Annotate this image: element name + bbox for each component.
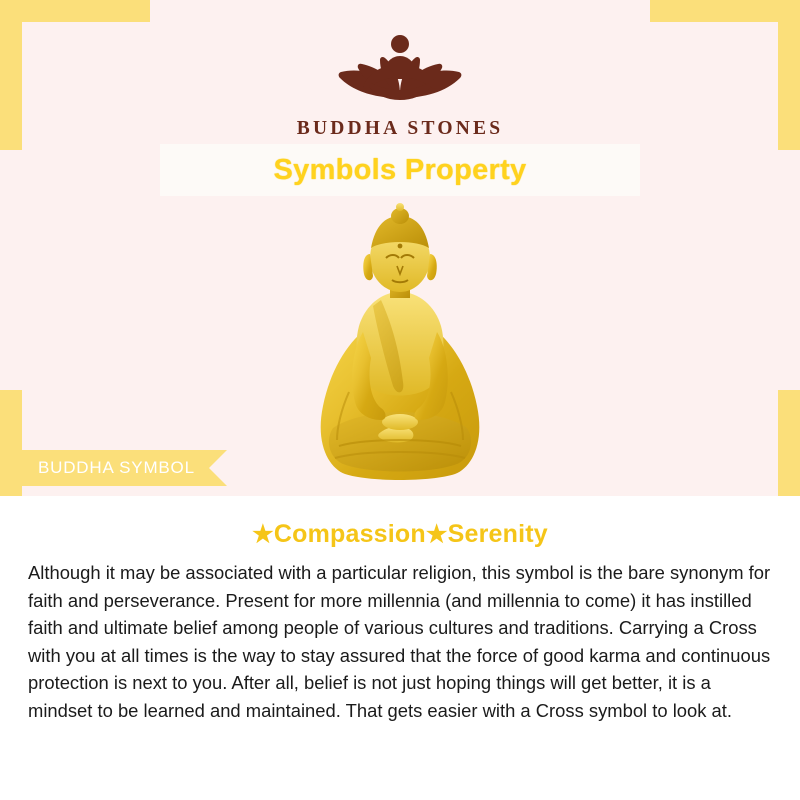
headline-word-one: Compassion bbox=[274, 520, 426, 548]
page-title: Symbols Property bbox=[274, 154, 527, 187]
symbol-tag-label: BUDDHA SYMBOL bbox=[38, 458, 195, 478]
brand-name: BUDDHA STONES bbox=[0, 118, 800, 140]
body-paragraph: Although it may be associated with a par… bbox=[28, 559, 772, 724]
poster-page: BUDDHA STONES Symbols Property bbox=[0, 0, 800, 800]
symbol-tag-arrow bbox=[209, 450, 227, 486]
corner-ribbon-top-right-horizontal bbox=[650, 0, 800, 22]
headline: ★Compassion★Serenity bbox=[28, 520, 772, 549]
lotus-meditation-icon bbox=[0, 22, 800, 114]
symbol-tag-body: BUDDHA SYMBOL bbox=[22, 450, 209, 486]
symbol-tag: BUDDHA SYMBOL bbox=[22, 450, 227, 486]
description-panel: ★Compassion★Serenity Although it may be … bbox=[0, 496, 800, 800]
star-icon-left: ★ bbox=[252, 521, 274, 548]
title-band: Symbols Property bbox=[160, 144, 640, 196]
headline-word-two: Serenity bbox=[448, 520, 548, 548]
corner-ribbon-top-left-horizontal bbox=[0, 0, 150, 22]
brand-logo: BUDDHA STONES bbox=[0, 22, 800, 140]
star-icon-right: ★ bbox=[426, 521, 448, 548]
